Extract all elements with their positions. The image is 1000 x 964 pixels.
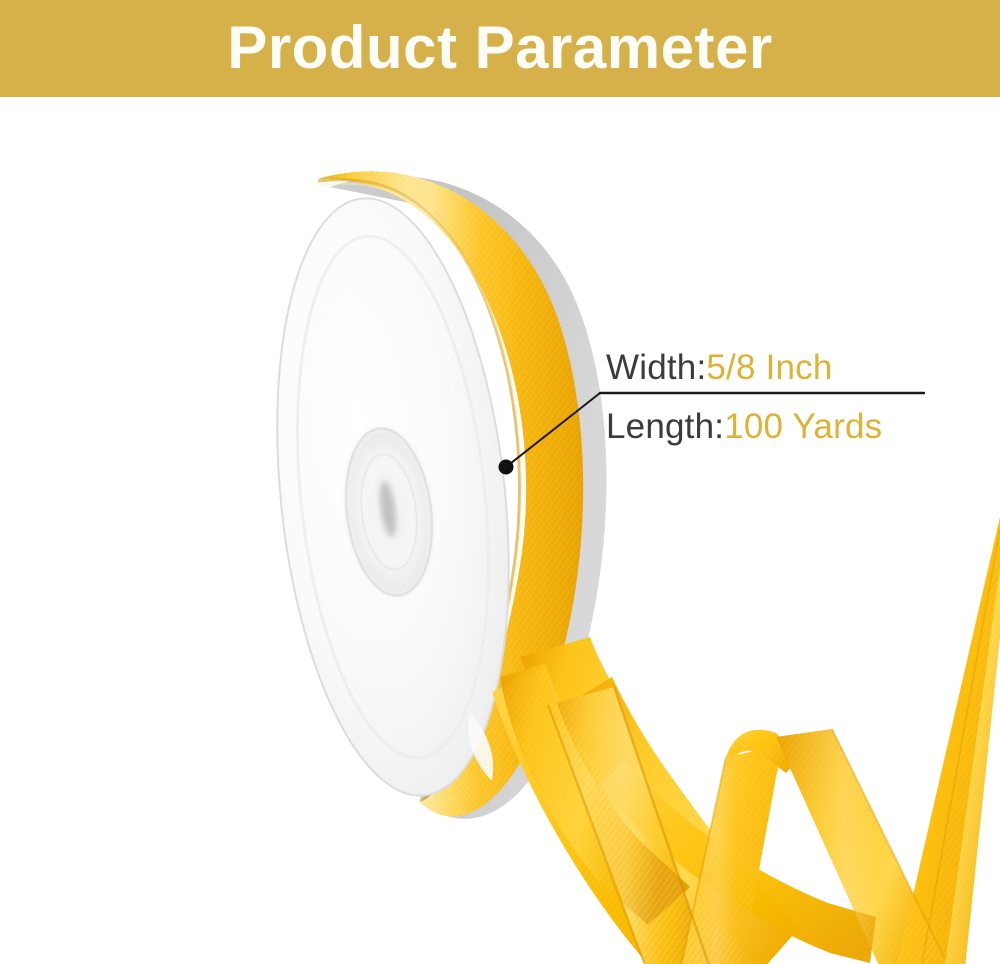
- leader-dot: [499, 460, 514, 475]
- callout-length: Length:100 Yards: [606, 409, 882, 444]
- product-parameter-image: Product Parameter: [0, 0, 1000, 964]
- product-photo: Width:5/8 Inch Length:100 Yards: [0, 97, 1000, 964]
- ribbon-spool-illustration: [0, 97, 1000, 964]
- callout-length-value: 100 Yards: [724, 407, 882, 446]
- page-title: Product Parameter: [227, 18, 772, 78]
- callout-width-value: 5/8 Inch: [706, 348, 832, 387]
- callout-length-label: Length:: [606, 407, 724, 446]
- banner-header: Product Parameter: [0, 0, 1000, 97]
- callout-width: Width:5/8 Inch: [606, 350, 833, 385]
- callout-width-label: Width:: [606, 348, 706, 387]
